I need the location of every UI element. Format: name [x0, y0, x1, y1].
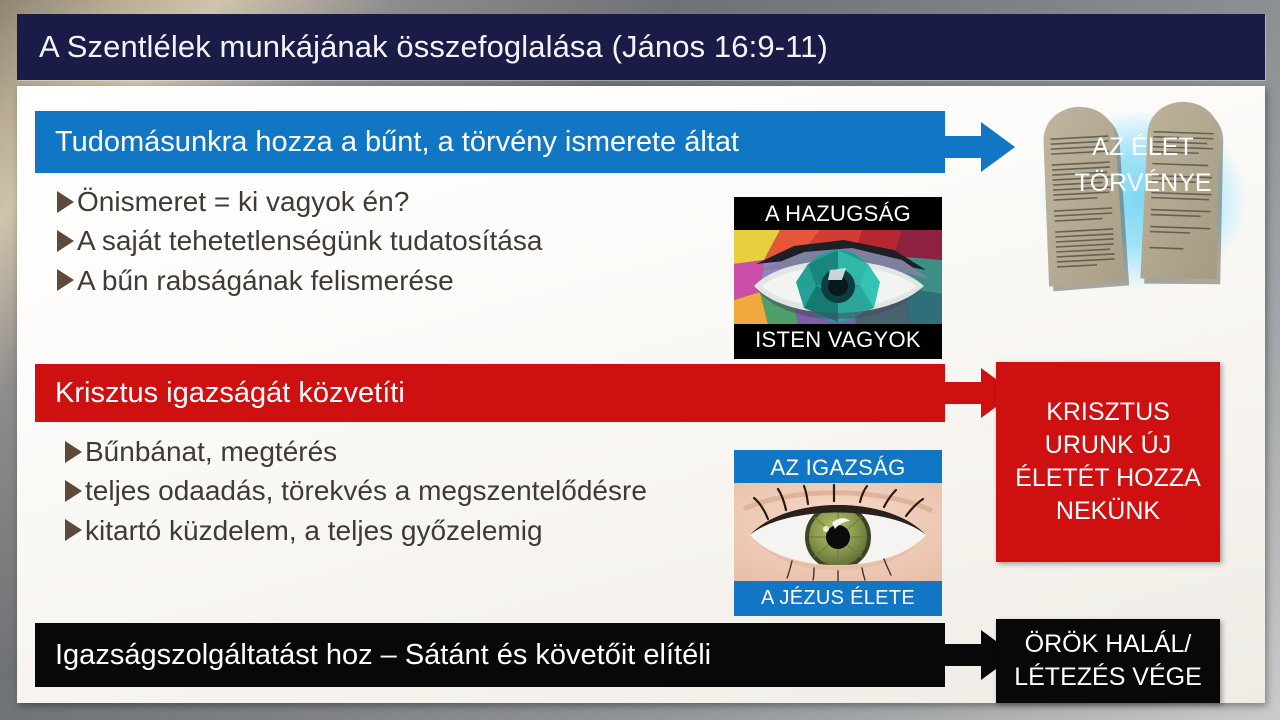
- card-hazugsag-caption-top: A HAZUGSÁG: [734, 203, 942, 225]
- banner-section-three: Igazságszolgáltatást hoz – Sátánt és köv…: [35, 623, 945, 687]
- list-item: kitartó küzdelem, a teljes győzelemig: [65, 515, 647, 546]
- list-item-label: Bűnbánat, megtérés: [85, 436, 337, 467]
- card-igazsag: AZ IGAZSÁG: [734, 450, 942, 616]
- bullet-list-section-two: Bűnbánat, megtérés teljes odaadás, törek…: [65, 436, 647, 554]
- triangle-bullet-icon: [57, 269, 74, 291]
- card-hazugsag-caption-bottom: ISTEN VAGYOK: [734, 329, 942, 351]
- content-panel: Tudomásunkra hozza a bűnt, a törvény ism…: [17, 86, 1265, 703]
- banner-section-two-label: Krisztus igazságát közvetíti: [55, 379, 405, 408]
- list-item: Bűnbánat, megtérés: [65, 436, 647, 467]
- triangle-bullet-icon: [57, 191, 74, 213]
- box-orok-line-1: ÖRÖK HALÁL/: [1025, 628, 1192, 661]
- arrow-head: [981, 122, 1015, 172]
- arrow-shaft: [937, 644, 983, 666]
- page-title: A Szentlélek munkájának összefoglalása (…: [39, 29, 828, 65]
- arrow-shaft: [937, 136, 983, 158]
- card-igazsag-caption-bottom: A JÉZUS ÉLETE: [734, 588, 942, 608]
- list-item-label: A bűn rabságának felismerése: [77, 265, 454, 296]
- list-item-label: kitartó küzdelem, a teljes győzelemig: [85, 515, 543, 546]
- slide-canvas: A Szentlélek munkájának összefoglalása (…: [0, 0, 1280, 720]
- box-krisztus-line-4: NEKÜNK: [1056, 495, 1160, 528]
- box-krisztus-line-3: ÉLETÉT HOZZA: [1015, 462, 1201, 495]
- arrow-shaft: [937, 382, 983, 404]
- stone-tablets-icon: AZ ÉLET TÖRVÉNYE: [1017, 92, 1269, 317]
- triangle-bullet-icon: [65, 519, 82, 541]
- list-item: A bűn rabságának felismerése: [57, 265, 542, 296]
- box-krisztus: KRISZTUS URUNK ÚJ ÉLETÉT HOZZA NEKÜNK: [996, 362, 1220, 562]
- banner-section-one-label: Tudomásunkra hozza a bűnt, a törvény ism…: [55, 128, 739, 157]
- human-eye-icon: [734, 483, 942, 581]
- triangle-bullet-icon: [65, 480, 82, 502]
- banner-section-three-label: Igazságszolgáltatást hoz – Sátánt és köv…: [55, 641, 711, 670]
- card-igazsag-caption-top: AZ IGAZSÁG: [734, 457, 942, 479]
- bullet-list-section-one: Önismeret = ki vagyok én? A saját tehete…: [57, 186, 542, 304]
- list-item-label: Önismeret = ki vagyok én?: [77, 186, 409, 217]
- arrow-blue-icon: [937, 122, 1015, 172]
- low-poly-eye-icon: [734, 230, 942, 324]
- list-item: teljes odaadás, törekvés a megszentelődé…: [65, 475, 647, 506]
- box-krisztus-line-1: KRISZTUS: [1046, 396, 1170, 429]
- list-item-label: A saját tehetetlenségünk tudatosítása: [77, 225, 542, 256]
- triangle-bullet-icon: [65, 441, 82, 463]
- banner-section-two: Krisztus igazságát közvetíti: [35, 364, 945, 422]
- list-item: Önismeret = ki vagyok én?: [57, 186, 542, 217]
- list-item-label: teljes odaadás, törekvés a megszentelődé…: [85, 475, 647, 506]
- box-orok: ÖRÖK HALÁL/ LÉTEZÉS VÉGE: [996, 619, 1220, 703]
- card-hazugsag: A HAZUGSÁG: [734, 197, 942, 359]
- list-item: A saját tehetetlenségünk tudatosítása: [57, 225, 542, 256]
- slide-title-bar: A Szentlélek munkájának összefoglalása (…: [17, 14, 1265, 80]
- box-orok-line-2: LÉTEZÉS VÉGE: [1014, 661, 1202, 694]
- box-krisztus-line-2: URUNK ÚJ: [1045, 429, 1171, 462]
- banner-section-one: Tudomásunkra hozza a bűnt, a törvény ism…: [35, 111, 945, 173]
- triangle-bullet-icon: [57, 230, 74, 252]
